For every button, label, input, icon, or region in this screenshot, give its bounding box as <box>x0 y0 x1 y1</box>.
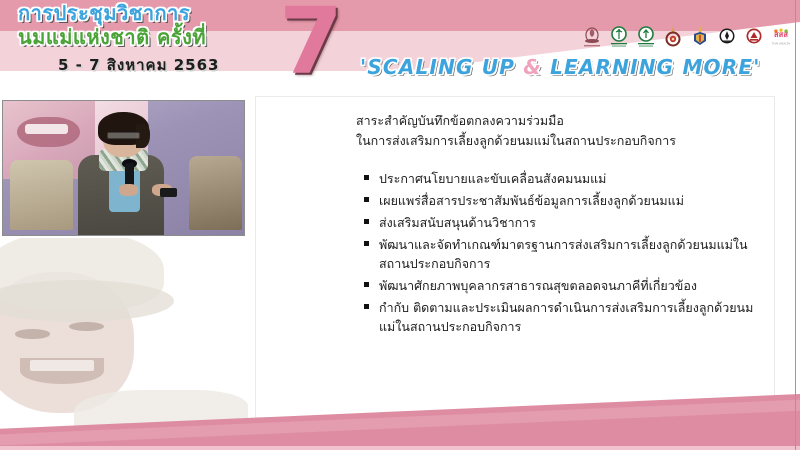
tagline-part-after: LEARNING MORE' <box>542 55 761 79</box>
conference-banner: 7 การประชุมวิชาการ นมแม่แห่งชาติ ครั้งที… <box>0 0 800 95</box>
speaker-video-thumbnail[interactable] <box>2 100 245 236</box>
list-item: ส่งเสริมสนับสนุนด้านวิชาการ <box>364 213 756 232</box>
list-item: ประกาศนโยบายและขับเคลื่อนสังคมนมแม่ <box>364 169 756 188</box>
university-seal-logo <box>716 24 738 50</box>
slide-content-panel: สาระสำคัญบันทึกข้อตกลงความร่วมมือ ในการส… <box>255 96 775 418</box>
department-health-logo <box>635 24 657 50</box>
conference-title-line1: การประชุมวิชาการ <box>18 2 298 25</box>
speaker-hand-left <box>119 184 138 196</box>
slide-bullet-list: ประกาศนโยบายและขับเคลื่อนสังคมนมแม่ เผยแ… <box>364 169 756 339</box>
conference-title-line2: นมแม่แห่งชาติ ครั้งที่ <box>18 25 298 50</box>
presentation-slide: 7 การประชุมวิชาการ นมแม่แห่งชาติ ครั้งที… <box>0 0 800 450</box>
conference-date: 5 - 7 สิงหาคม 2563 <box>58 53 298 77</box>
sponsor-logo-strip: สสส THAI HEALTH <box>581 24 792 50</box>
svg-text:THAI HEALTH: THAI HEALTH <box>771 42 791 46</box>
thai-crown-emblem-logo <box>662 24 684 50</box>
list-item: เผยแพร่สื่อสารประชาสัมพันธ์ข้อมูลการเลี้… <box>364 191 756 210</box>
list-item: พัฒนาและจัดทำเกณฑ์มาตรฐานการส่งเสริมการเ… <box>364 235 756 273</box>
presentation-clicker-icon <box>160 188 177 197</box>
child-teeth <box>30 360 94 371</box>
child-hat-brim <box>0 280 174 322</box>
royal-seal-logo <box>581 24 603 50</box>
ministry-public-health-logo <box>608 24 630 50</box>
child-eye-right <box>69 322 104 332</box>
bottom-edge-strip <box>0 446 800 450</box>
smiling-child-photo <box>0 238 248 428</box>
conference-title-block: การประชุมวิชาการ นมแม่แห่งชาติ ครั้งที่ … <box>18 2 298 77</box>
conference-tagline: 'SCALING UP & LEARNING MORE' <box>360 55 761 79</box>
stage-chair-right <box>189 156 242 230</box>
list-item: กำกับ ติดตามและประเมินผลการดำเนินการส่งเ… <box>364 298 756 336</box>
tagline-ampersand: & <box>523 55 542 79</box>
red-crown-seal-logo <box>743 24 765 50</box>
child-eye-left <box>15 329 50 339</box>
lead-line-2: ในการส่งเสริมการเลี้ยงลูกด้วยนมแม่ในสถาน… <box>356 131 756 151</box>
tagline-part-before: 'SCALING UP <box>360 55 523 79</box>
stage-chair-left <box>10 160 73 230</box>
thaihealth-sss-logo: สสส THAI HEALTH <box>770 24 792 50</box>
right-border-rule <box>795 0 796 450</box>
list-item: พัฒนาศักยภาพบุคลากรสาธารณสุขตลอดจนภาคีที… <box>364 276 756 295</box>
speaker-glasses-icon <box>107 132 141 139</box>
slide-lead-text: สาระสำคัญบันทึกข้อตกลงความร่วมมือ ในการส… <box>356 111 756 152</box>
lead-line-1: สาระสำคัญบันทึกข้อตกลงความร่วมมือ <box>356 111 756 131</box>
poster-teeth-detail <box>25 124 68 135</box>
royal-garuda-emblem-logo <box>689 24 711 50</box>
